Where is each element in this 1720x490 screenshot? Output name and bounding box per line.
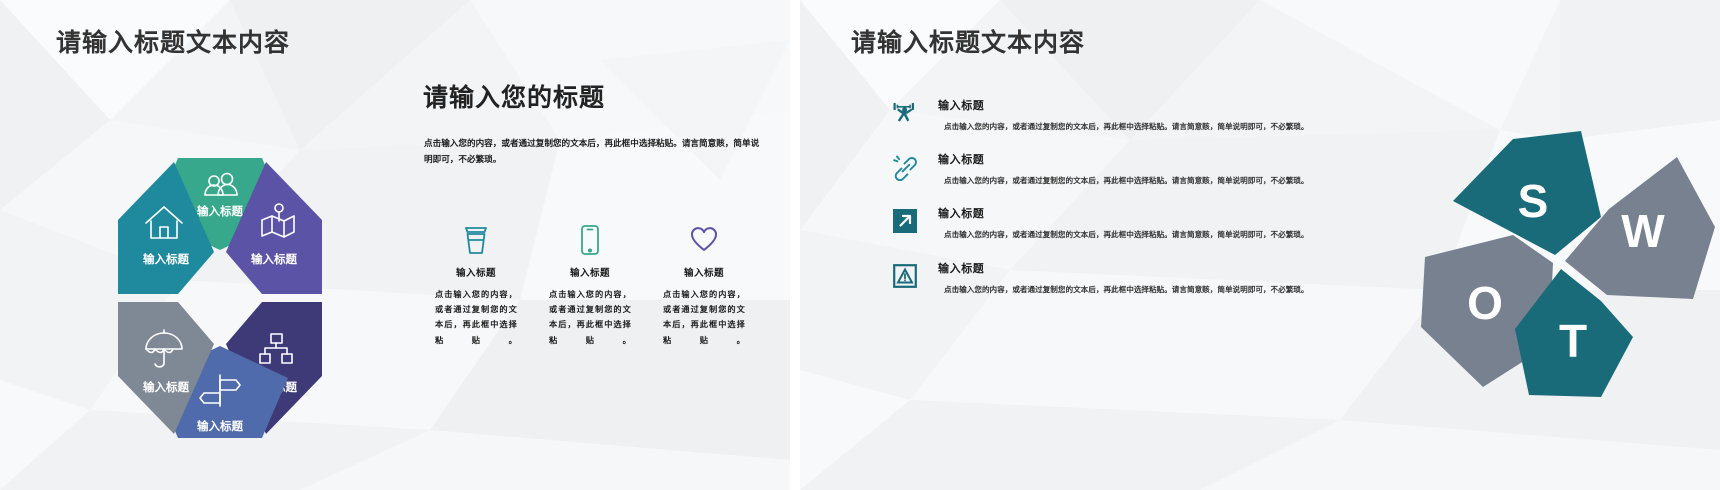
slide-1-paragraph: 点击输入您的内容，或者通过复制您的文本后，再此框中选择粘贴。请言简意赅，简单说明… — [424, 136, 764, 168]
feature-item-4-heading: 输入标题 — [938, 260, 1310, 276]
trio-item-1-body: 点击输入您的内容，或者通过复制您的文本后，再此框中选择粘贴。 — [435, 287, 517, 348]
feature-item-2-heading: 输入标题 — [938, 151, 1310, 167]
icon-trio-group: 输入标题 点击输入您的内容，或者通过复制您的文本后，再此框中选择粘贴。 输入标题… — [430, 222, 750, 348]
trio-item-3-body: 点击输入您的内容，或者通过复制您的文本后，再此框中选择粘贴。 — [663, 287, 745, 348]
wheel-segment-5-label: 输入标题 — [143, 380, 189, 394]
feature-item-1-body: 点击输入您的内容，或者通过复制您的文本后，再此框中选择粘贴。请言简意赅，简单说明… — [938, 119, 1310, 134]
feature-item-2-body: 点击输入您的内容，或者通过复制您的文本后，再此框中选择粘贴。请言简意赅，简单说明… — [938, 173, 1310, 188]
feature-item-1-heading: 输入标题 — [938, 97, 1310, 113]
feature-item-3-heading: 输入标题 — [938, 205, 1310, 221]
slide-divider — [790, 0, 800, 490]
trio-item-2[interactable]: 输入标题 点击输入您的内容，或者通过复制您的文本后，再此框中选择粘贴。 — [544, 222, 636, 348]
wheel-segment-2-label: 输入标题 — [251, 252, 297, 266]
wheel-segment-4-label: 输入标题 — [197, 419, 243, 433]
slide-2-title: 请输入标题文本内容 — [851, 23, 1085, 59]
feature-item-4[interactable]: 输入标题 点击输入您的内容，或者通过复制您的文本后，再此框中选择粘贴。请言简意赅… — [890, 260, 1310, 297]
slide-1-text-block: 请输入您的标题 点击输入您的内容，或者通过复制您的文本后，再此框中选择粘贴。请言… — [420, 78, 770, 168]
heart-icon — [689, 222, 719, 258]
slide-1-title: 请输入标题文本内容 — [56, 23, 290, 59]
feature-item-3[interactable]: 输入标题 点击输入您的内容，或者通过复制您的文本后，再此框中选择粘贴。请言简意赅… — [890, 205, 1310, 242]
warning-triangle-icon — [890, 261, 920, 291]
swot-letter-o: O — [1467, 277, 1503, 329]
weightlifter-icon — [890, 98, 920, 128]
hexagon-wheel-diagram: 输入标题 输入标题 — [60, 100, 380, 400]
trio-item-1-label: 输入标题 — [456, 265, 496, 279]
feature-item-3-body: 点击输入您的内容，或者通过复制您的文本后，再此框中选择粘贴。请言简意赅，简单说明… — [938, 227, 1310, 242]
trio-item-2-body: 点击输入您的内容，或者通过复制您的文本后，再此框中选择粘贴。 — [549, 287, 631, 348]
swot-letter-w: W — [1621, 205, 1665, 257]
chain-link-icon — [890, 152, 920, 182]
swot-petal-s[interactable]: S — [1453, 131, 1601, 255]
slide-1-heading: 请输入您的标题 — [423, 78, 770, 114]
trio-item-1[interactable]: 输入标题 点击输入您的内容，或者通过复制您的文本后，再此框中选择粘贴。 — [430, 222, 522, 348]
wheel-segment-6-label: 输入标题 — [143, 252, 189, 266]
slide-1: 请输入标题文本内容 输入标题 — [0, 0, 790, 490]
slide-2: 请输入标题文本内容 输入标题 点击输入您的内容，或者通过复制您的文本后，再此框中… — [800, 0, 1720, 490]
trio-item-3[interactable]: 输入标题 点击输入您的内容，或者通过复制您的文本后，再此框中选择粘贴。 — [658, 222, 750, 348]
coffee-cup-icon — [462, 222, 490, 258]
feature-item-1[interactable]: 输入标题 点击输入您的内容，或者通过复制您的文本后，再此框中选择粘贴。请言简意赅… — [890, 97, 1310, 134]
slide-2-feature-list: 输入标题 点击输入您的内容，或者通过复制您的文本后，再此框中选择粘贴。请言简意赅… — [890, 95, 1310, 314]
swot-letter-t: T — [1559, 315, 1587, 367]
feature-item-2[interactable]: 输入标题 点击输入您的内容，或者通过复制您的文本后，再此框中选择粘贴。请言简意赅… — [890, 151, 1310, 188]
wheel-segment-1-label: 输入标题 — [197, 204, 243, 218]
arrow-up-right-icon — [890, 206, 920, 236]
feature-item-4-body: 点击输入您的内容，或者通过复制您的文本后，再此框中选择粘贴。请言简意赅，简单说明… — [938, 282, 1310, 297]
swot-letter-s: S — [1518, 175, 1549, 227]
swot-diagram: S W O T — [1405, 105, 1715, 405]
trio-item-3-label: 输入标题 — [684, 265, 724, 279]
mobile-phone-icon — [578, 222, 602, 258]
trio-item-2-label: 输入标题 — [570, 265, 610, 279]
